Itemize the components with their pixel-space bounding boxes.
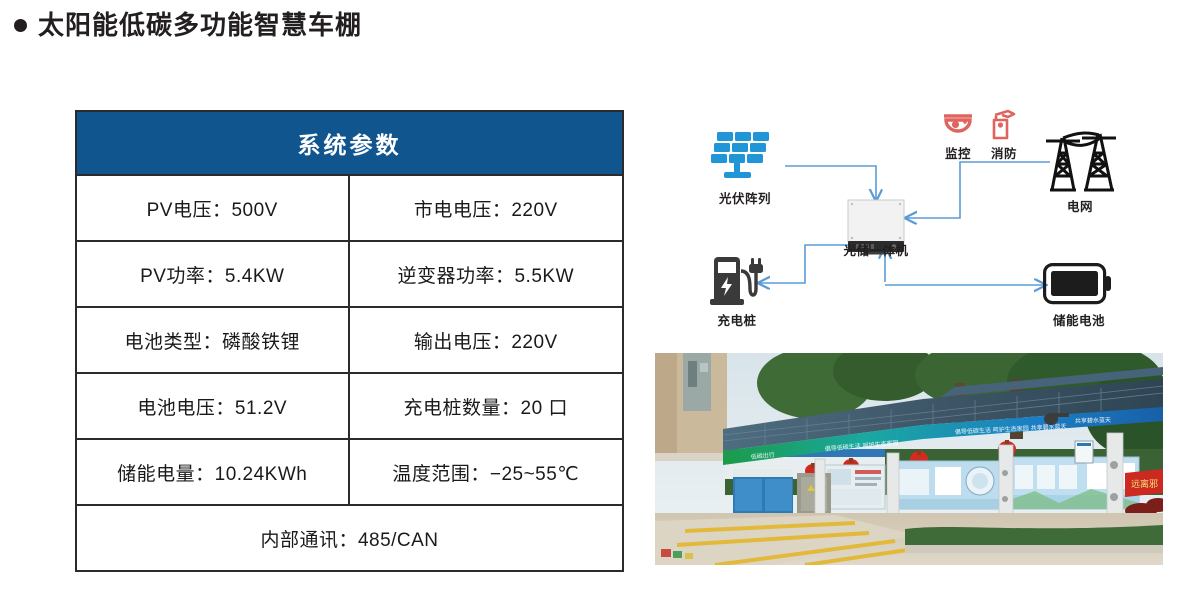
battery-icon [1043,263,1113,305]
table-cell-battery-type: 电池类型：磷酸铁锂 [77,308,350,372]
transmission-tower-icon [1040,128,1120,194]
table-cell-output-voltage: 输出电压：220V [350,308,623,372]
table-row: PV电压：500V 市电电压：220V [77,176,622,242]
table-cell-internal-comm: 内部通讯：485/CAN [77,506,622,570]
node-label-pv-array: 光伏阵列 [695,188,795,207]
node-label-storage-battery: 储能电池 [1033,310,1125,329]
table-cell-temp-range: 温度范围：−25~55℃ [350,440,623,504]
system-parameters-table: 系统参数 PV电压：500V 市电电压：220V PV功率：5.4KW 逆变器功… [75,110,624,572]
svg-text:共享碧水蓝天: 共享碧水蓝天 [1075,416,1111,425]
table-row: 储能电量：10.24KWh 温度范围：−25~55℃ [77,440,622,506]
svg-text:远离邪: 远离邪 [1131,478,1158,490]
node-label-power-grid: 电网 [1044,196,1116,215]
table-cell-pv-voltage: PV电压：500V [77,176,350,240]
filled-circle-bullet-icon [14,19,27,32]
node-label-hybrid-inverter: 光储一体机 [830,240,922,259]
dome-camera-icon [941,110,975,140]
ev-charger-icon [708,255,766,309]
table-row: PV功率：5.4KW 逆变器功率：5.5KW [77,242,622,308]
carport-photograph: 低碳出行 倡导低碳生活 呵护生态家园 倡导低碳生活 呵护生态家园 共享碧水蓝天 … [655,353,1163,565]
table-row: 电池电压：51.2V 充电桩数量：20 口 [77,374,622,440]
table-row: 电池类型：磷酸铁锂 输出电压：220V [77,308,622,374]
table-cell-storage-energy: 储能电量：10.24KWh [77,440,350,504]
table-cell-inverter-power: 逆变器功率：5.5KW [350,242,623,306]
node-label-fire-protection: 消防 [979,143,1029,162]
table-row: 内部通讯：485/CAN [77,506,622,570]
table-cell-charger-count: 充电桩数量：20 口 [350,374,623,438]
table-cell-grid-voltage: 市电电压：220V [350,176,623,240]
node-label-monitoring: 监控 [933,143,983,162]
photo-illustration: 低碳出行 倡导低碳生活 呵护生态家园 倡导低碳生活 呵护生态家园 共享碧水蓝天 … [655,353,1163,565]
table-header: 系统参数 [77,112,622,176]
table-cell-pv-power: PV功率：5.4KW [77,242,350,306]
system-architecture-diagram: 光伏阵列 监控 消防 [655,100,1165,340]
table-cell-battery-voltage: 电池电压：51.2V [77,374,350,438]
node-label-charging-pile: 充电桩 [695,310,779,329]
page-title-text: 太阳能低碳多功能智慧车棚 [38,12,362,38]
fire-extinguisher-icon [986,109,1018,141]
page-title: 太阳能低碳多功能智慧车棚 [14,12,362,38]
solar-panel-icon [711,128,785,184]
